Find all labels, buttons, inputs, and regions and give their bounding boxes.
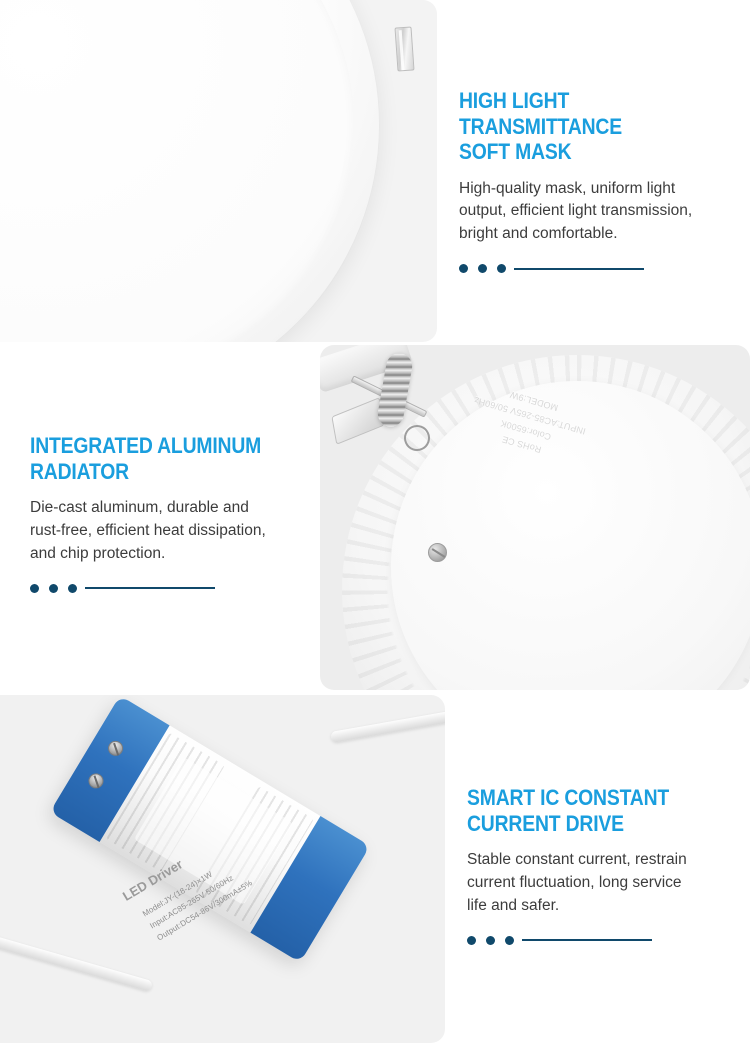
feature-heading: SMART IC CONSTANT CURRENT DRIVE <box>467 785 697 836</box>
feature-heading: HIGH LIGHT TRANSMITTANCE SOFT MASK <box>459 88 696 165</box>
feature-row-3: LED Driver Model:JY-(18-24)×1W Input:AC8… <box>0 695 750 1043</box>
divider-rule <box>522 939 652 941</box>
divider-dot-icon <box>467 936 476 945</box>
divider-dots <box>467 936 728 945</box>
product-feature-page: HIGH LIGHT TRANSMITTANCE SOFT MASK High-… <box>0 0 750 1043</box>
feature-text-soft-mask: HIGH LIGHT TRANSMITTANCE SOFT MASK High-… <box>437 0 750 342</box>
feature-row-1: HIGH LIGHT TRANSMITTANCE SOFT MASK High-… <box>0 0 750 342</box>
input-wire <box>0 933 153 992</box>
divider-dot-icon <box>68 584 77 593</box>
divider-dot-icon <box>49 584 58 593</box>
feature-body: High-quality mask, uniform light output,… <box>459 178 728 247</box>
divider-rule <box>514 268 644 270</box>
divider-dots <box>459 264 728 273</box>
divider-dot-icon <box>459 264 468 273</box>
divider-rule <box>85 587 215 589</box>
feature-heading: INTEGRATED ALUMINUM RADIATOR <box>30 433 266 484</box>
divider-dot-icon <box>505 936 514 945</box>
divider-dot-icon <box>478 264 487 273</box>
feature-image-aluminum-radiator: RoHS CE Color:6500K INPUT:AC85-265V 50/6… <box>320 345 750 690</box>
panel-light-rim <box>0 0 380 342</box>
feature-text-led-driver: SMART IC CONSTANT CURRENT DRIVE Stable c… <box>445 695 750 1043</box>
spring-clip-icon <box>394 26 414 71</box>
divider-dots <box>30 584 298 593</box>
screw-icon <box>428 543 447 562</box>
feature-image-soft-mask <box>0 0 437 342</box>
divider-dot-icon <box>30 584 39 593</box>
feature-text-aluminum-radiator: INTEGRATED ALUMINUM RADIATOR Die-cast al… <box>0 345 320 690</box>
feature-body: Stable constant current, restrain curren… <box>467 849 728 918</box>
feature-row-2: INTEGRATED ALUMINUM RADIATOR Die-cast al… <box>0 345 750 690</box>
feature-image-led-driver: LED Driver Model:JY-(18-24)×1W Input:AC8… <box>0 695 445 1043</box>
divider-dot-icon <box>497 264 506 273</box>
mounting-bracket-plate <box>331 397 384 445</box>
divider-dot-icon <box>486 936 495 945</box>
feature-body: Die-cast aluminum, durable and rust-free… <box>30 497 298 566</box>
led-driver-unit <box>50 696 370 963</box>
output-wire <box>330 706 445 743</box>
